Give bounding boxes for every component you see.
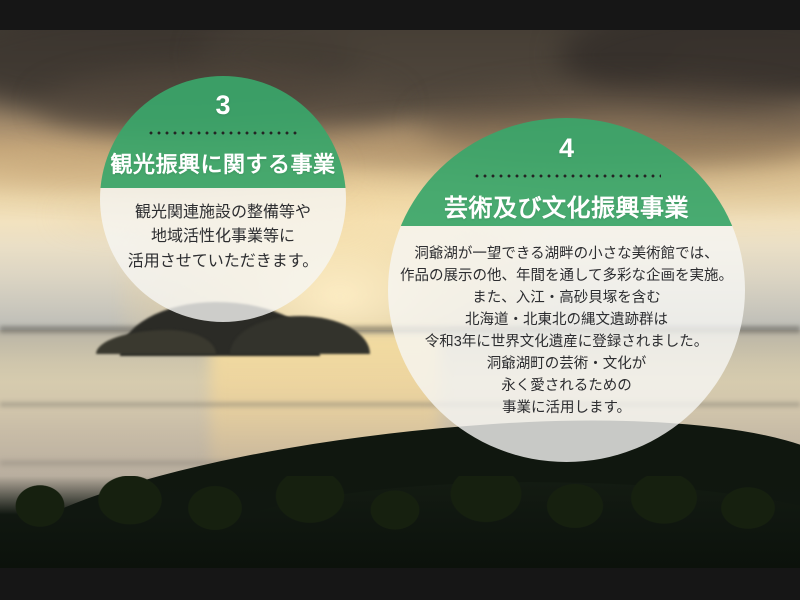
body-line: 令和3年に世界文化遺産に登録されました。: [388, 331, 745, 353]
body-line: 永く愛されるための: [388, 375, 745, 397]
card-heading: 芸術及び文化振興事業: [388, 188, 745, 223]
card-number: 3: [100, 76, 346, 119]
card-body: 観光関連施設の整備等や 地域活性化事業等に 活用させていただきます。: [100, 201, 346, 274]
body-line: 事業に活用します。: [388, 397, 745, 419]
body-line: 観光関連施設の整備等や: [100, 201, 346, 225]
body-line: 洞爺湖が一望できる湖畔の小さな美術館では、: [388, 243, 745, 265]
body-line: 洞爺湖町の芸術・文化が: [388, 353, 745, 375]
card-number: 4: [388, 118, 745, 162]
circle-3-content: 3 観光振興に関する事業 観光関連施設の整備等や 地域活性化事業等に 活用させて…: [100, 76, 346, 322]
body-line: 北海道・北東北の縄文遺跡群は: [388, 309, 745, 331]
body-line: 活用させていただきます。: [100, 250, 346, 274]
dotted-divider: [147, 131, 299, 135]
info-circle-4: 4 芸術及び文化振興事業 洞爺湖が一望できる湖畔の小さな美術館では、 作品の展示…: [388, 118, 745, 462]
body-line: 地域活性化事業等に: [100, 225, 346, 249]
card-heading: 観光振興に関する事業: [100, 147, 346, 179]
treeline-silhouette: [0, 476, 800, 568]
letterbox-top: [0, 0, 800, 30]
circle-4-content: 4 芸術及び文化振興事業 洞爺湖が一望できる湖畔の小さな美術館では、 作品の展示…: [388, 118, 745, 462]
body-line: また、入江・高砂貝塚を含む: [388, 287, 745, 309]
slide-canvas: 3 観光振興に関する事業 観光関連施設の整備等や 地域活性化事業等に 活用させて…: [0, 0, 800, 600]
card-body: 洞爺湖が一望できる湖畔の小さな美術館では、 作品の展示の他、年間を通して多彩な企…: [388, 243, 745, 419]
info-circle-3: 3 観光振興に関する事業 観光関連施設の整備等や 地域活性化事業等に 活用させて…: [100, 76, 346, 322]
dotted-divider: [473, 174, 661, 178]
body-line: 作品の展示の他、年間を通して多彩な企画を実施。: [388, 265, 745, 287]
letterbox-bottom: [0, 568, 800, 600]
